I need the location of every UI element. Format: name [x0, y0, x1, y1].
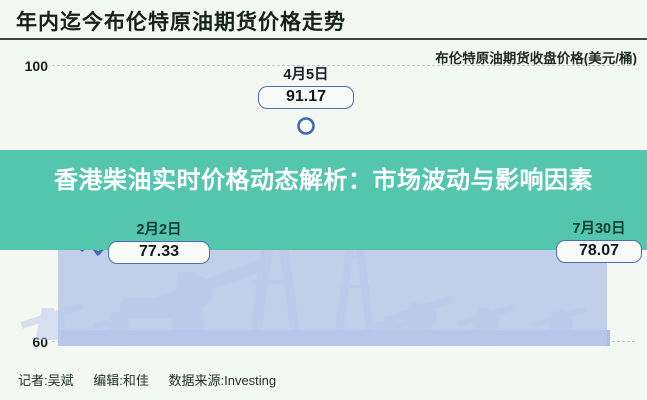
callout-end-value: 78.07 [556, 240, 642, 263]
page-title: 年内迄今布伦特原油期货价格走势 [16, 6, 346, 36]
footer-credits: 记者:吴斌 编辑:和佳 数据来源:Investing [18, 370, 292, 389]
footer-editor: 编辑:和佳 [93, 373, 149, 388]
headline-title: 香港柴油实时价格动态解析：市场波动与影响因素 [0, 163, 647, 199]
chart-infographic: 年内迄今布伦特原油期货价格走势 布伦特原油期货收盘价格(美元/桶) 100 80… [0, 0, 647, 400]
callout-start-date: 2月2日 [108, 222, 210, 239]
callout-peak: 4月5日 91.17 [258, 67, 354, 109]
callout-start-value: 77.33 [108, 241, 210, 264]
callout-end: 7月30日 78.07 [556, 221, 642, 263]
marker-peak [299, 119, 314, 134]
footer-reporter: 记者:吴斌 [18, 373, 74, 388]
callout-peak-date: 4月5日 [258, 67, 354, 84]
footer-source: 数据来源:Investing [169, 373, 277, 388]
callout-end-date: 7月30日 [556, 221, 642, 238]
callout-peak-value: 91.17 [258, 86, 354, 109]
callout-start: 2月2日 77.33 [108, 222, 210, 264]
